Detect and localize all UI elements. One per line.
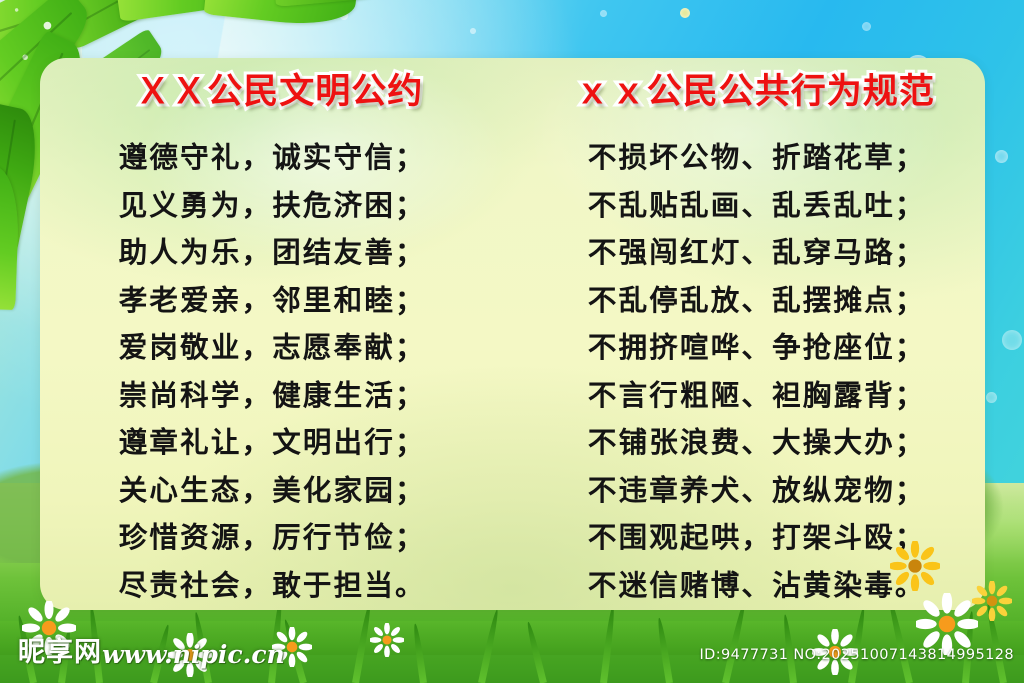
- norm-line: 不违章养犬、放纵宠物；: [519, 467, 986, 515]
- panel-content: ＸＸ公民文明公约 遵德守礼，诚实守信； 见义勇为，扶危济困； 助人为乐，团结友善…: [40, 58, 985, 610]
- bubble-decor: [995, 150, 1008, 163]
- bubble-decor: [680, 8, 690, 18]
- content-panel: ＸＸ公民文明公约 遵德守礼，诚实守信； 见义勇为，扶危济困； 助人为乐，团结友善…: [40, 58, 985, 610]
- norm-line: 不铺张浪费、大操大办；: [519, 419, 986, 467]
- grass-blade: [525, 621, 547, 683]
- pledge-line: 见义勇为，扶危济困；: [58, 182, 513, 230]
- pledge-line: 爱岗敬业，志愿奉献；: [58, 324, 513, 372]
- pledge-line: 珍惜资源，厉行节俭；: [58, 514, 513, 562]
- left-column: ＸＸ公民文明公约 遵德守礼，诚实守信； 见义勇为，扶危济困； 助人为乐，团结友善…: [40, 58, 513, 610]
- left-column-lines: 遵德守礼，诚实守信； 见义勇为，扶危济困； 助人为乐，团结友善； 孝老爱亲，邻里…: [58, 134, 513, 609]
- yellow-flower-icon: [890, 541, 940, 591]
- bubble-decor: [1002, 330, 1022, 350]
- norm-line: 不拥挤喧哗、争抢座位；: [519, 324, 986, 372]
- pledge-line: 崇尚科学，健康生活；: [58, 372, 513, 420]
- right-column: ｘｘ公民公共行为规范 不损坏公物、折踏花草； 不乱贴乱画、乱丢乱吐； 不强闯红灯…: [513, 58, 986, 610]
- left-column-title: ＸＸ公民文明公约: [58, 70, 513, 126]
- daisy-flower-icon: [370, 623, 404, 657]
- daisy-flower-icon: [916, 593, 978, 655]
- grass-blade: [412, 623, 427, 683]
- norm-line: 不强闯红灯、乱穿马路；: [519, 229, 986, 277]
- norm-line: 不言行粗陋、袒胸露背；: [519, 372, 986, 420]
- image-id-label: ID:9477731 NO:20251007143814995128: [699, 647, 1014, 663]
- yellow-flower-icon: [972, 581, 1012, 621]
- pledge-line: 助人为乐，团结友善；: [58, 229, 513, 277]
- grass-blade: [656, 617, 673, 683]
- pledge-line: 遵德守礼，诚实守信；: [58, 134, 513, 182]
- norm-line: 不乱停乱放、乱摆摊点；: [519, 277, 986, 325]
- poster-canvas: ＸＸ公民文明公约 遵德守礼，诚实守信； 见义勇为，扶危济困； 助人为乐，团结友善…: [0, 0, 1024, 683]
- norm-line: 不乱贴乱画、乱丢乱吐；: [519, 182, 986, 230]
- pledge-line: 关心生态，美化家园；: [58, 467, 513, 515]
- watermark-site-name: 昵享网: [18, 630, 102, 669]
- bubble-decor: [986, 392, 997, 403]
- grass-blade: [600, 605, 616, 683]
- right-column-title: ｘｘ公民公共行为规范: [519, 70, 986, 126]
- bubble-decor: [470, 28, 476, 34]
- pledge-line: 遵章礼让，文明出行；: [58, 419, 513, 467]
- grass-blade: [722, 600, 748, 683]
- right-column-lines: 不损坏公物、折踏花草； 不乱贴乱画、乱丢乱吐； 不强闯红灯、乱穿马路； 不乱停乱…: [519, 134, 986, 609]
- watermark-url: www.nipic.cn: [102, 640, 285, 669]
- grass-blade: [478, 609, 500, 683]
- bubble-decor: [600, 10, 607, 17]
- bubble-decor: [862, 22, 871, 31]
- norm-line: 不损坏公物、折踏花草；: [519, 134, 986, 182]
- pledge-line: 孝老爱亲，邻里和睦；: [58, 277, 513, 325]
- site-watermark: 昵享网 www.nipic.cn: [18, 630, 285, 669]
- pledge-line: 尽责社会，敢于担当。: [58, 562, 513, 610]
